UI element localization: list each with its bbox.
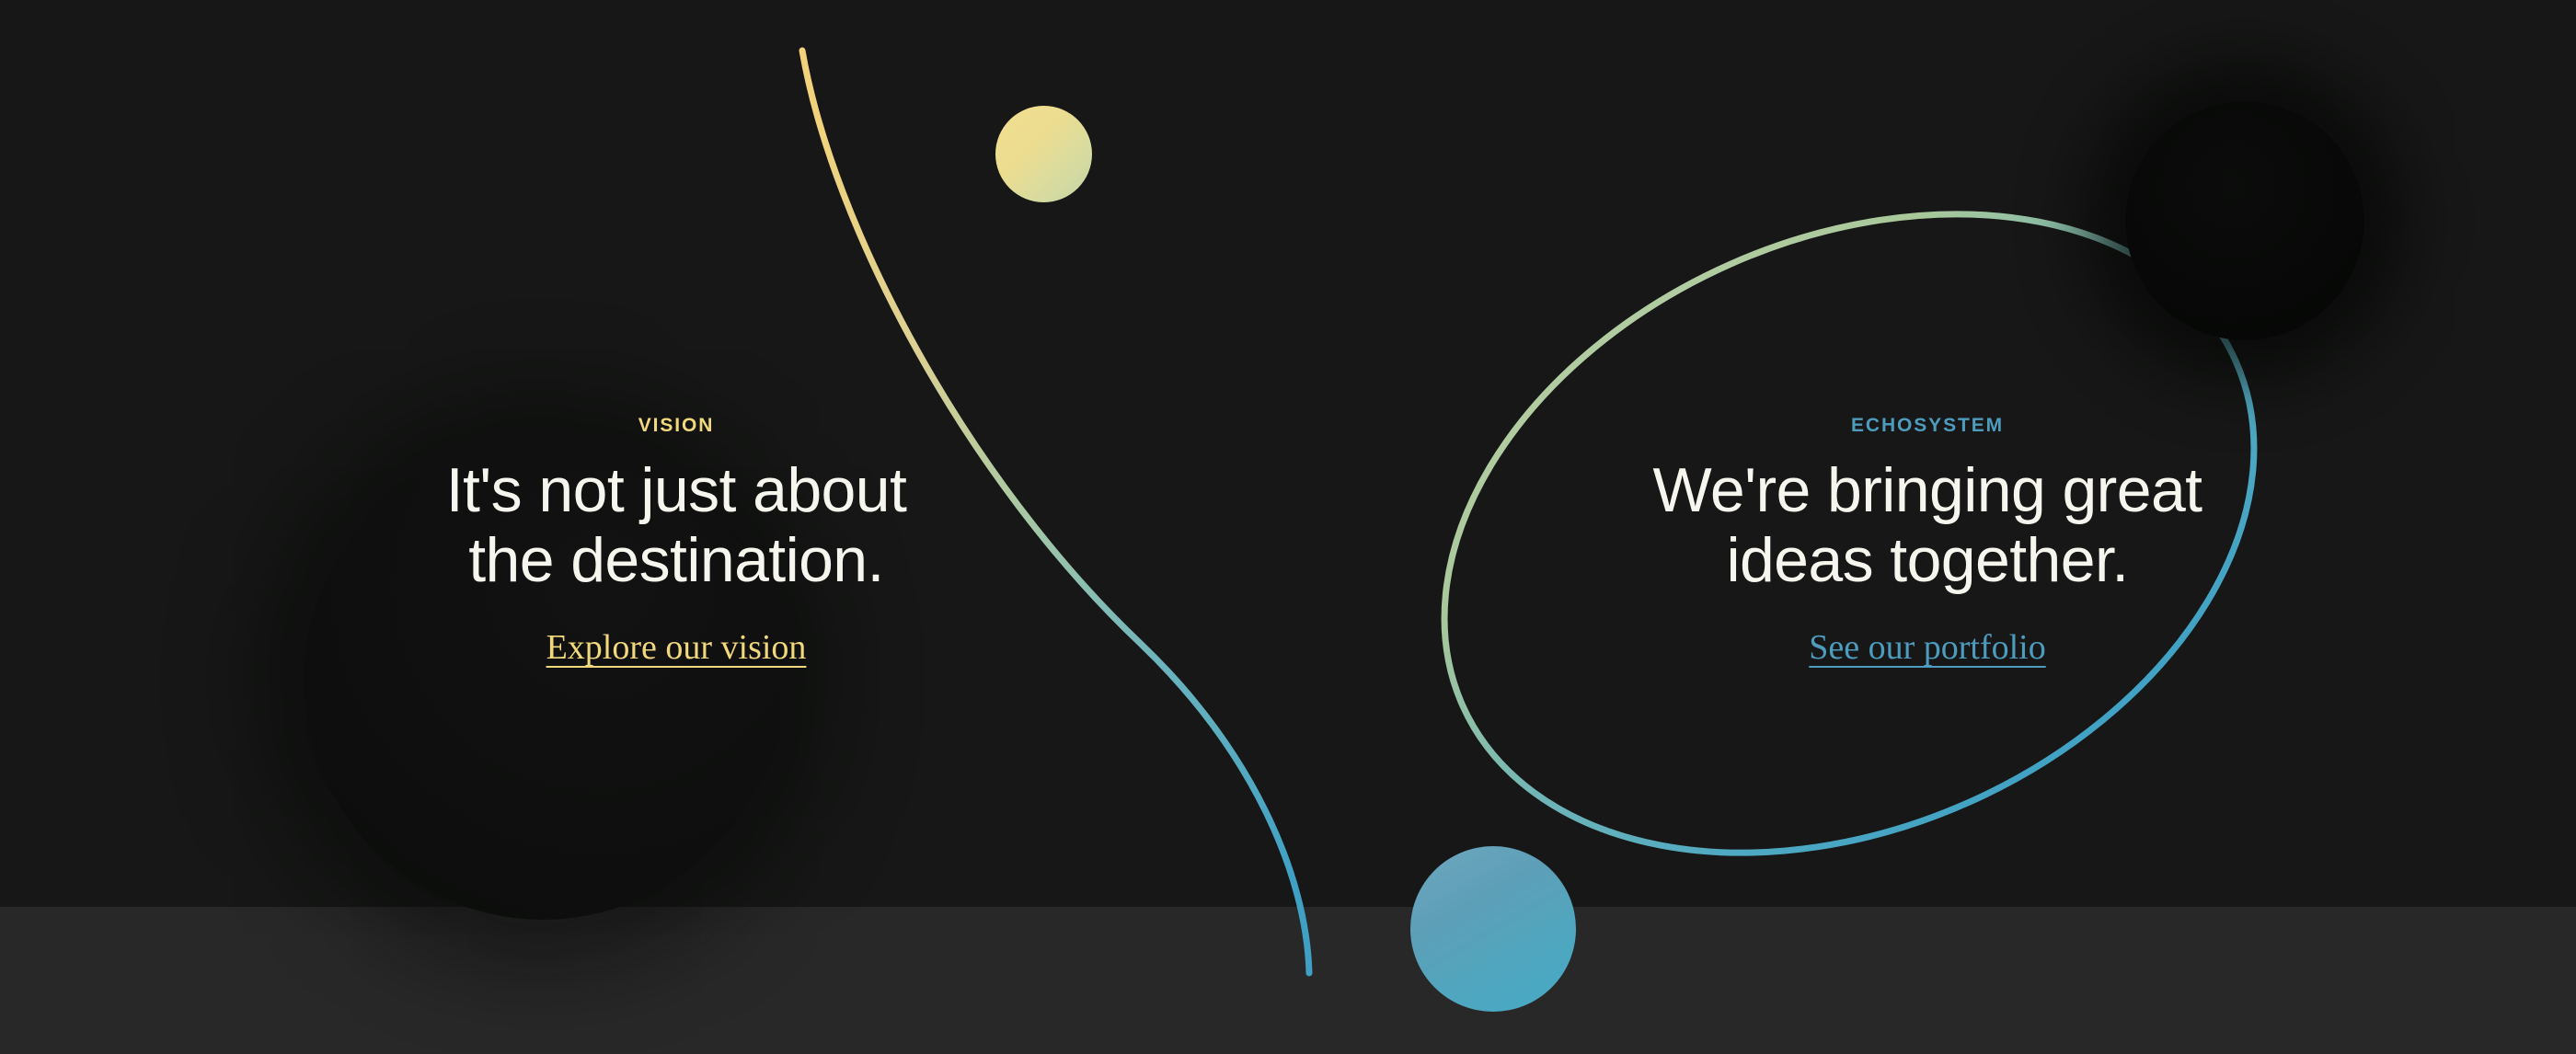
panel-vision-headline-line2: the destination. <box>468 525 884 595</box>
panel-echosystem-headline: We're bringing great ideas together. <box>1615 455 2240 595</box>
hero-section: VISION It's not just about the destinati… <box>0 0 2576 1054</box>
background-band-bottom <box>0 907 2576 1054</box>
panel-echosystem-cta-wrap: See our portfolio <box>1615 630 2240 665</box>
panel-echosystem: ECHOSYSTEM We're bringing great ideas to… <box>1615 416 2240 665</box>
panel-echosystem-eyebrow: ECHOSYSTEM <box>1615 416 2240 435</box>
panel-echosystem-headline-line1: We're bringing great <box>1653 455 2202 525</box>
explore-our-vision-link[interactable]: Explore our vision <box>546 628 807 667</box>
see-our-portfolio-link[interactable]: See our portfolio <box>1809 628 2046 667</box>
panel-echosystem-headline-line2: ideas together. <box>1726 525 2128 595</box>
panel-vision: VISION It's not just about the destinati… <box>396 416 957 665</box>
panel-vision-headline-line1: It's not just about <box>446 455 907 525</box>
panel-vision-cta-wrap: Explore our vision <box>396 630 957 665</box>
panel-vision-headline: It's not just about the destination. <box>396 455 957 595</box>
yellow-sphere-icon <box>995 106 1092 202</box>
dark-sphere-right-icon <box>2125 101 2364 340</box>
panel-vision-eyebrow: VISION <box>396 416 957 435</box>
blue-sphere-icon <box>1410 846 1576 1012</box>
